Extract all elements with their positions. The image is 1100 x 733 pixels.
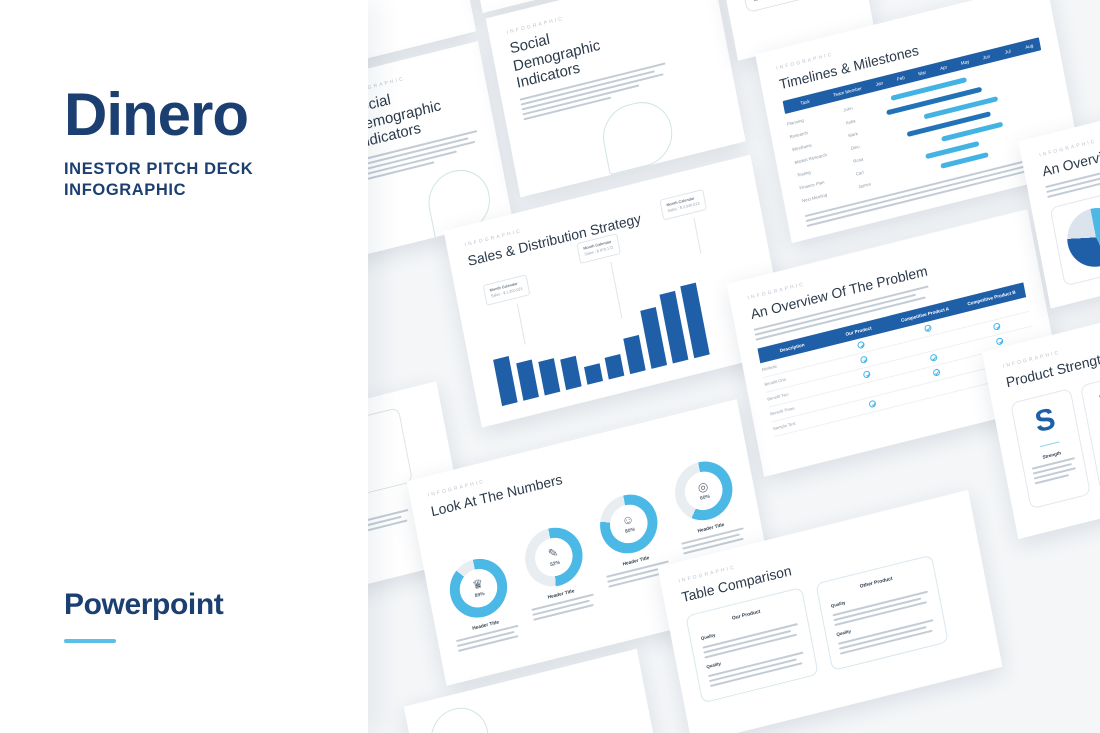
donut-chart: ◎ 60%: [670, 455, 737, 526]
check-icon: [929, 354, 937, 363]
donut-cell: ◎ 60% Header Title: [667, 454, 746, 557]
bar: [584, 363, 603, 385]
slide-grid: INFOGRAPHIC 40% 32% 28%: [330, 0, 1100, 733]
donut-percent: 89%: [474, 590, 485, 598]
table-card-our-product[interactable]: Our Product Quality Quality: [685, 586, 818, 703]
gantt-col-jan: Jan: [867, 74, 891, 92]
gantt-col-apr: Apr: [932, 58, 956, 76]
subtitle-line-2: INFOGRAPHIC: [64, 180, 253, 201]
check-icon: [993, 322, 1001, 331]
trophy-icon: ♛: [471, 577, 484, 591]
page-title: Dinero: [64, 85, 253, 145]
check-icon: [857, 341, 865, 350]
gantt-col-mar: Mar: [910, 64, 934, 82]
footer-title: Powerpoint: [64, 588, 223, 622]
donut-chart: ♛ 89%: [445, 552, 512, 623]
callout-leader-line: [693, 218, 701, 254]
bar: [493, 356, 518, 406]
donut-percent: 52%: [550, 559, 561, 567]
poster-canvas: INFOGRAPHIC 40% 32% 28%: [0, 0, 1100, 733]
table-card-other-product[interactable]: Other Product Quality Quality: [815, 554, 948, 671]
gantt-col-jun: Jun: [974, 48, 998, 66]
check-icon: [924, 324, 932, 333]
bar: [605, 354, 625, 379]
bar: [516, 360, 539, 401]
check-icon: [932, 368, 940, 377]
pencil-icon: ✎: [547, 546, 559, 560]
slide-mockup-field: INFOGRAPHIC 40% 32% 28%: [330, 0, 1100, 733]
bar: [560, 356, 581, 390]
donut-chart: ✎ 52%: [520, 521, 587, 592]
lightbulb-icon: ◎: [697, 479, 709, 493]
pie-card: [1049, 186, 1100, 286]
donut-hole: ◎ 60%: [682, 467, 726, 514]
decorative-blob: [426, 702, 493, 733]
check-icon: [996, 337, 1004, 346]
gantt-col-may: May: [953, 53, 977, 71]
swot-rule: [1040, 441, 1060, 447]
decorative-blob: [598, 95, 678, 175]
swot-letter: W: [1091, 383, 1100, 423]
swot-card-strength[interactable]: S Strength: [1010, 388, 1091, 509]
page-subtitle: INESTOR PITCH DECK INFOGRAPHIC: [64, 159, 253, 201]
gantt-col-aug: Aug: [1017, 37, 1041, 55]
donut-cell: ♛ 89% Header Title: [442, 551, 521, 654]
donut-chart: ☺ 80%: [595, 488, 662, 559]
subtitle-line-1: INESTOR PITCH DECK: [64, 159, 253, 180]
bar: [538, 358, 560, 395]
brand-block: Dinero INESTOR PITCH DECK INFOGRAPHIC: [64, 85, 253, 201]
donut-cell: ✎ 52% Header Title: [517, 520, 596, 623]
gantt-col-feb: Feb: [889, 69, 913, 87]
footer-accent-rule: [64, 639, 116, 643]
swot-letter: S: [1021, 401, 1069, 441]
check-icon: [863, 370, 871, 379]
sales-bar-chart: [488, 284, 709, 407]
title-panel: Dinero INESTOR PITCH DECK INFOGRAPHIC Po…: [0, 0, 368, 733]
footer-block: Powerpoint: [64, 588, 223, 643]
bar: [623, 335, 645, 374]
check-icon: [869, 400, 877, 409]
check-icon: [860, 355, 868, 364]
donut-hole: ♛ 89%: [456, 564, 500, 611]
pie-chart: [1062, 201, 1100, 272]
swot-body-text: [1032, 457, 1078, 484]
stat-percent-label: 68%: [753, 0, 766, 2]
donut-percent: 60%: [700, 493, 711, 501]
user-icon: ☺: [621, 512, 635, 527]
sales-callout-1: Month Calendar Sales : $ 1,200,021: [483, 274, 530, 306]
gantt-col-jul: Jul: [996, 42, 1020, 60]
donut-percent: 80%: [625, 526, 636, 534]
donut-hole: ☺ 80%: [607, 500, 651, 547]
people-stat-card: 75% 2018 2020 68% 2019 2022: [734, 0, 848, 13]
donut-hole: ✎ 52%: [532, 533, 576, 580]
demographic-stat-row: 68% 2019 2022: [753, 0, 837, 2]
